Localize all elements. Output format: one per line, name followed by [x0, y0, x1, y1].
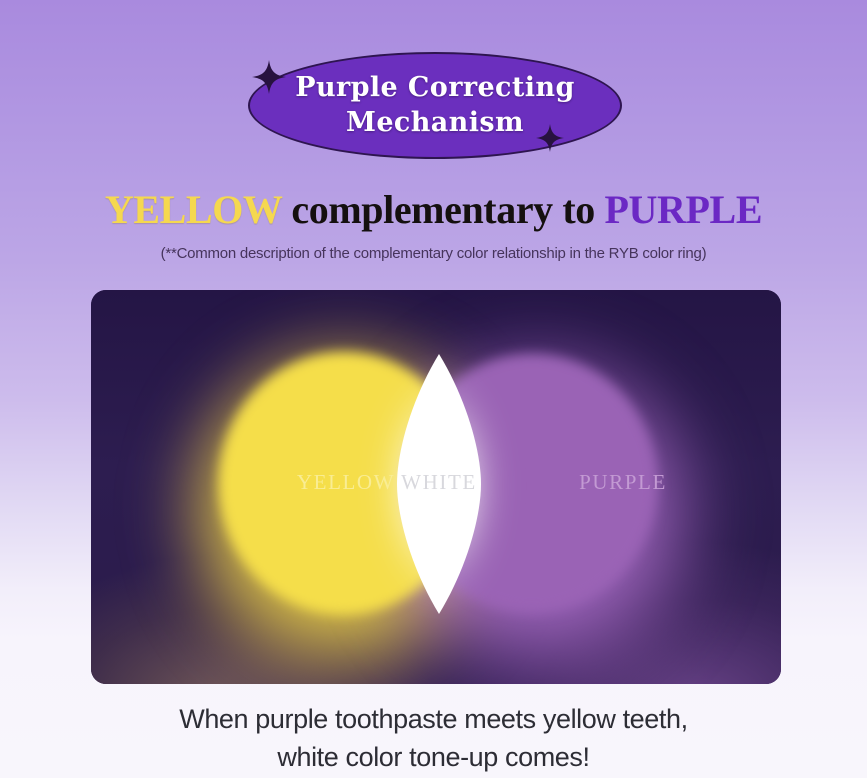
- color-mixing-illustration-panel: YELLOW WHITE PURPLE: [91, 290, 781, 684]
- infographic-page: Purple Correcting Mechanism YELLOW compl…: [0, 0, 867, 778]
- subtitle-note: (**Common description of the complementa…: [0, 245, 867, 262]
- zone-label-white: WHITE: [389, 470, 489, 495]
- badge-title: Purple Correcting Mechanism: [295, 71, 574, 140]
- purple-correcting-mechanism-badge: Purple Correcting Mechanism: [248, 52, 622, 159]
- badge-area: Purple Correcting Mechanism: [0, 52, 867, 162]
- headline-yellow-word: YELLOW: [105, 187, 282, 232]
- headline-purple-word: PURPLE: [605, 187, 763, 232]
- caption-text: When purple toothpaste meets yellow teet…: [0, 700, 867, 777]
- headline: YELLOW complementary to PURPLE: [0, 186, 867, 233]
- zone-label-purple: PURPLE: [523, 470, 723, 495]
- headline-middle-text: complementary to: [282, 187, 605, 232]
